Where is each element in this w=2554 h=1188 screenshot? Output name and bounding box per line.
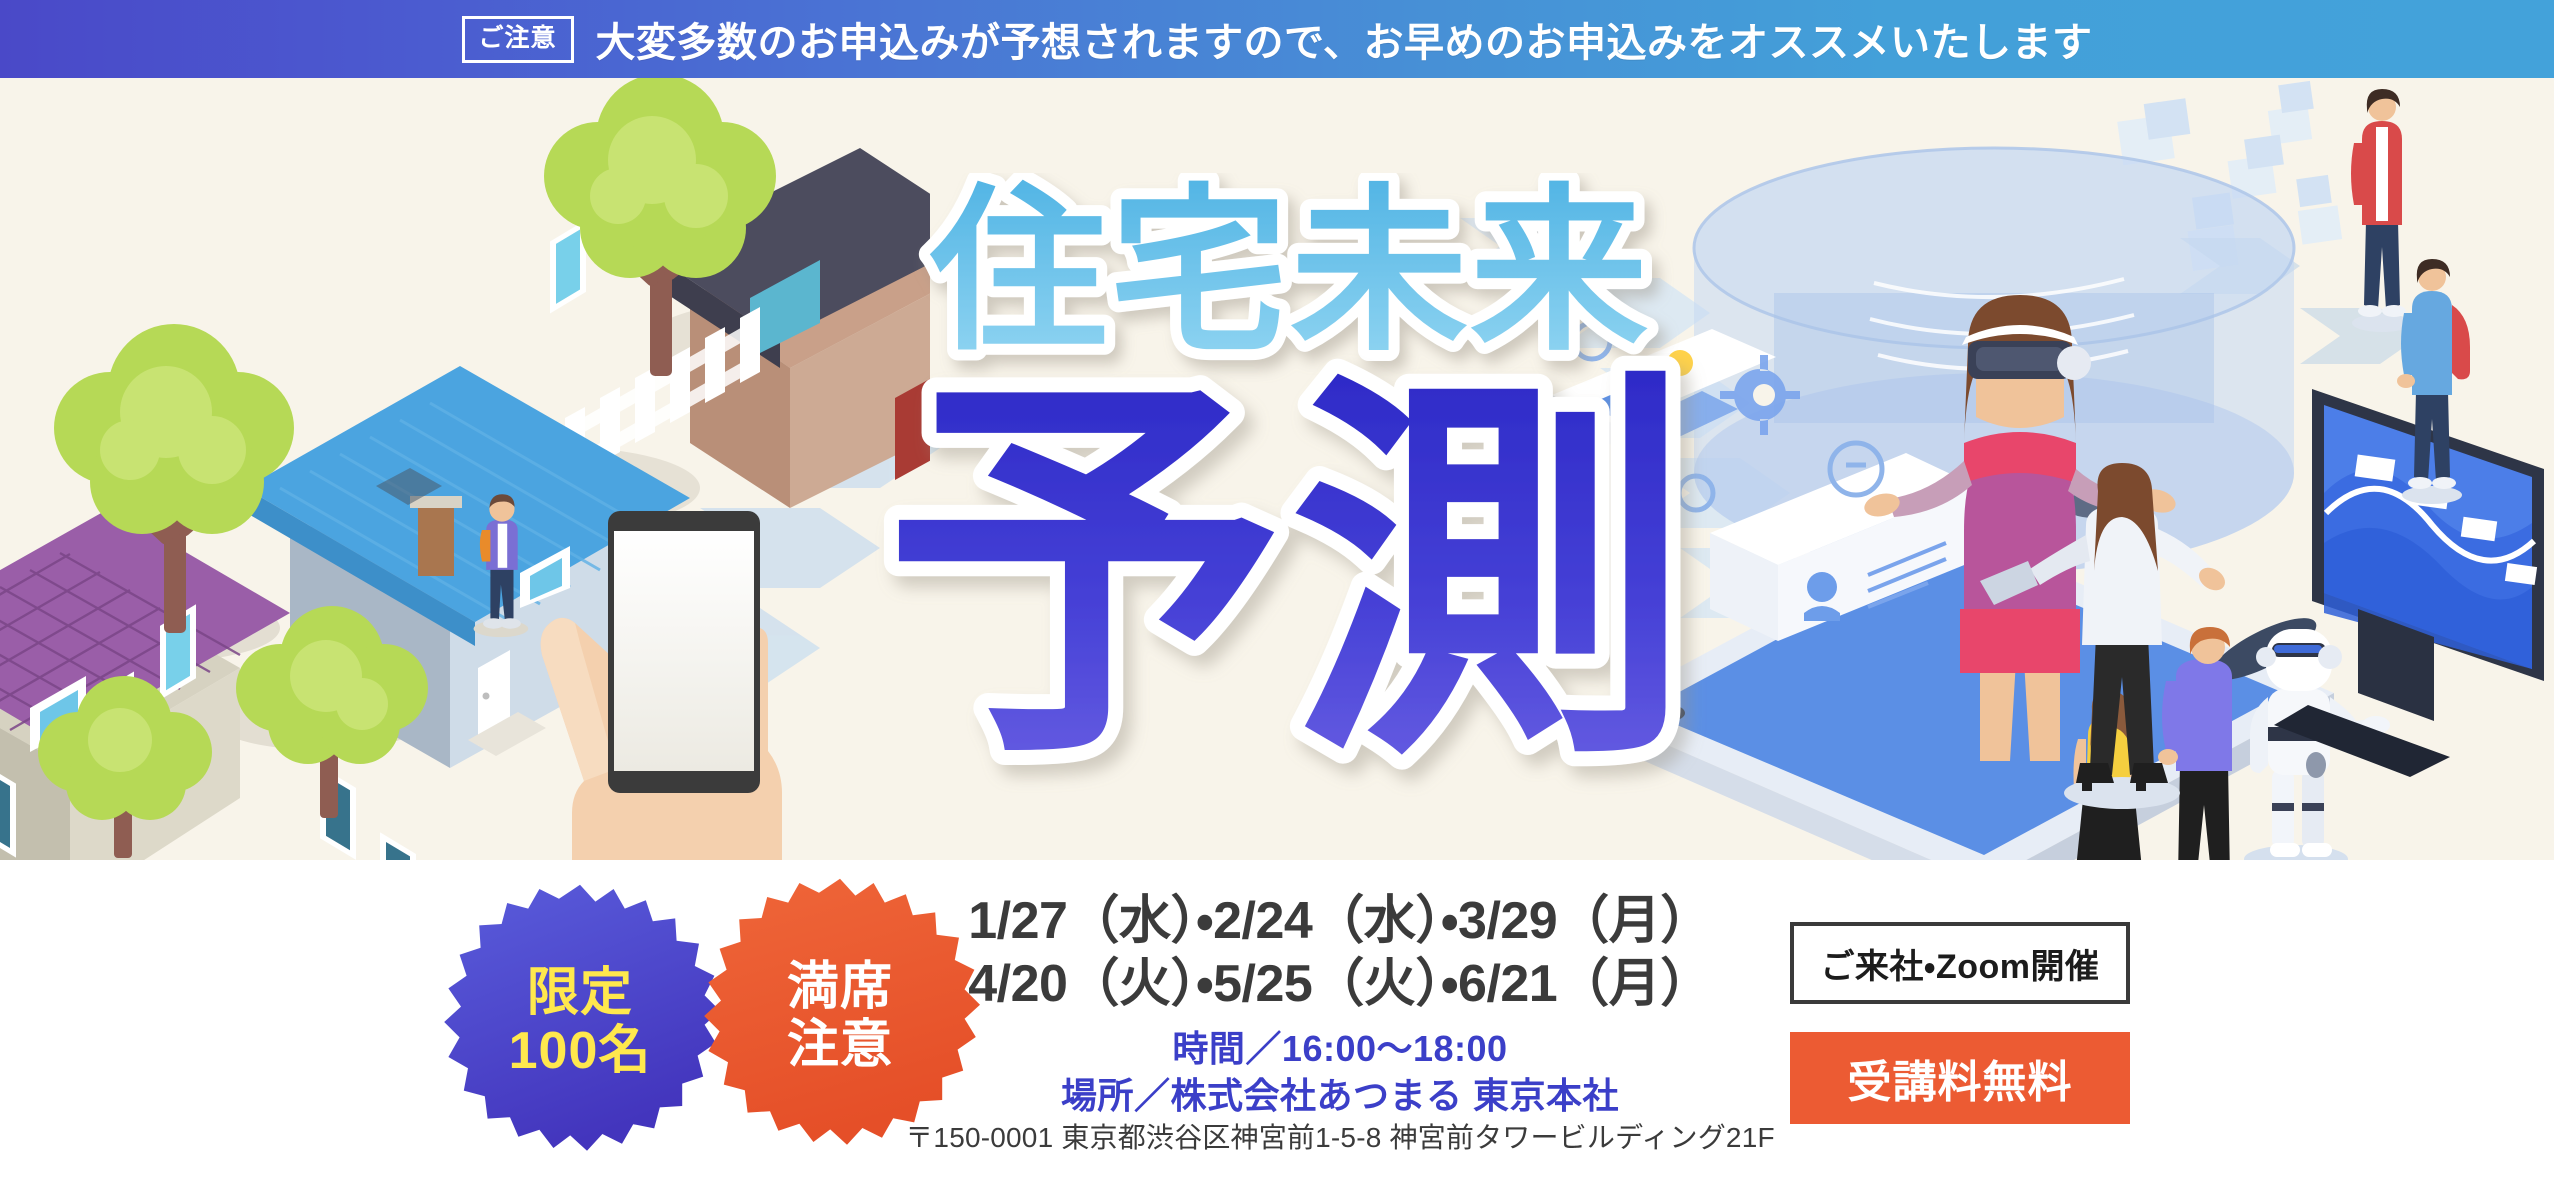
dates-line-2: 4/20（火）・5/25（火）・6/21（月） bbox=[960, 953, 1720, 1016]
callout-free-admission: 受講料無料 bbox=[1790, 1032, 2130, 1124]
seal-limited-100: 限定 100名 bbox=[440, 882, 720, 1162]
seal-soldout-line2: 注意 bbox=[787, 1016, 893, 1074]
vr-technology-illustration bbox=[1474, 78, 2554, 860]
notice-message: 大変多数のお申込みが予想されますので、お早めのお申込みをオススメいたします bbox=[596, 10, 2093, 68]
notice-bar: ご注意 大変多数のお申込みが予想されますので、お早めのお申込みをオススメいたしま… bbox=[0, 0, 2554, 78]
seminar-banner: ご注意 大変多数のお申込みが予想されますので、お早めのお申込みをオススメいたしま… bbox=[0, 0, 2554, 1188]
callout-venue-zoom: ご来社・Zoom開催 bbox=[1790, 922, 2130, 1004]
venue-line: 場所／株式会社あつまる 東京本社 bbox=[900, 1073, 1780, 1120]
smartphone bbox=[608, 511, 760, 793]
seal-limited-line2: 100名 bbox=[509, 1022, 652, 1080]
hero-illustration-band: 住宅未来 bbox=[0, 78, 2554, 860]
notice-badge: ご注意 bbox=[462, 16, 574, 63]
seal-soldout-line1: 満席 bbox=[787, 958, 893, 1016]
seal-sold-out-text: 満席 注意 bbox=[787, 958, 893, 1074]
hand-holding-smartphone bbox=[480, 493, 900, 860]
address-line: 〒150-0001 東京都渋谷区神宮前1-5-8 神宮前タワービルディング21F bbox=[880, 1116, 1800, 1156]
callout-free-admission-label: 受講料無料 bbox=[1848, 1046, 2073, 1110]
bottom-info-area: 限定 100名 満席 注意 1/27（水）・2/24（水 bbox=[0, 860, 2554, 1188]
time-line: 時間／16:00〜18:00 bbox=[900, 1026, 1780, 1073]
schedule-meta: 時間／16:00〜18:00 場所／株式会社あつまる 東京本社 bbox=[900, 1026, 1780, 1120]
seal-limited-100-text: 限定 100名 bbox=[509, 964, 652, 1080]
dates-line-1: 1/27（水）・2/24（水）・3/29（月） bbox=[960, 890, 1720, 953]
seal-sold-out-warning: 満席 注意 bbox=[700, 876, 980, 1156]
callout-venue-zoom-label: ご来社・Zoom開催 bbox=[1820, 939, 2099, 988]
seal-limited-line1: 限定 bbox=[509, 964, 652, 1022]
person-man-red-jacket bbox=[2351, 89, 2412, 332]
analytics-monitor bbox=[2274, 389, 2544, 777]
schedule-dates: 1/27（水）・2/24（水）・3/29（月） 4/20（火）・5/25（火）・… bbox=[960, 890, 1720, 1017]
